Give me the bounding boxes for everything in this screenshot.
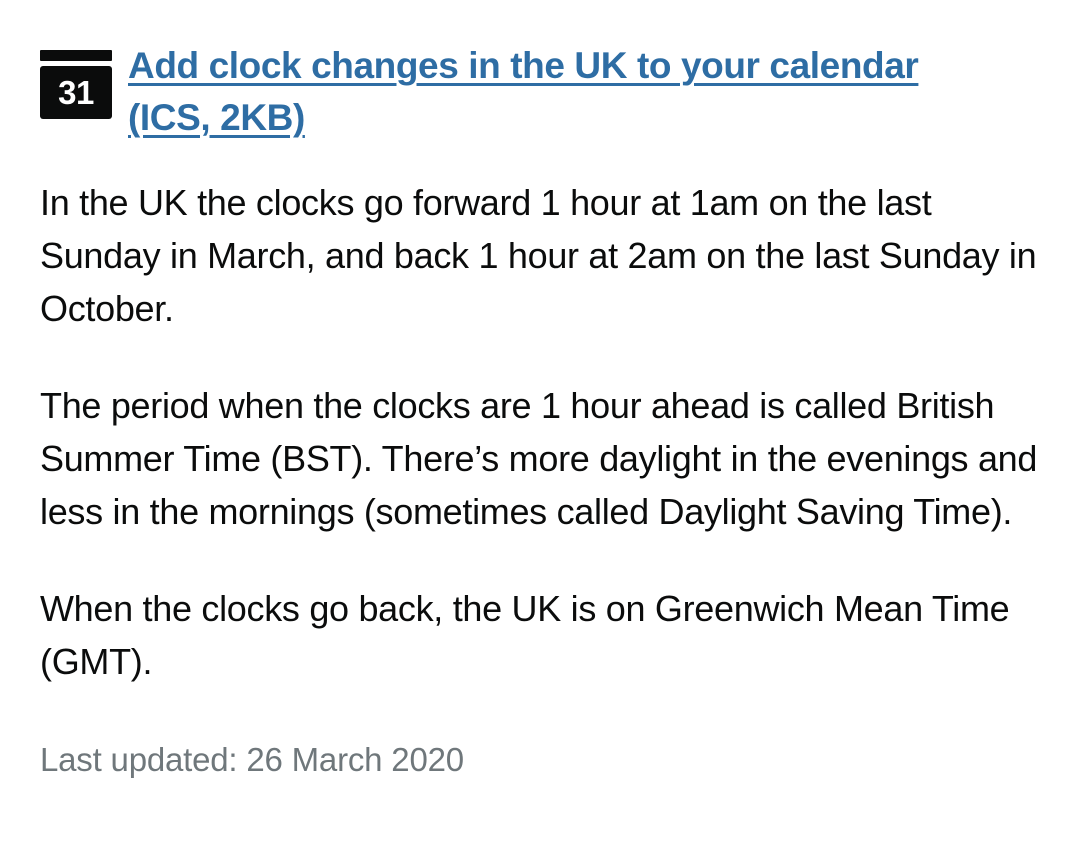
add-clock-changes-calendar-link[interactable]: Add clock changes in the UK to your cale… [128, 40, 1008, 144]
paragraph-clock-change-times: In the UK the clocks go forward 1 hour a… [40, 176, 1040, 335]
attachment-block: 31 Add clock changes in the UK to your c… [40, 40, 1040, 144]
page-content: 31 Add clock changes in the UK to your c… [0, 0, 1080, 782]
body-copy: In the UK the clocks go forward 1 hour a… [40, 176, 1040, 688]
calendar-icon-day-number: 31 [58, 76, 94, 109]
last-updated-text: Last updated: 26 March 2020 [40, 738, 1040, 782]
calendar-ics-icon: 31 [40, 50, 112, 119]
paragraph-greenwich-mean-time: When the clocks go back, the UK is on Gr… [40, 582, 1040, 688]
paragraph-british-summer-time: The period when the clocks are 1 hour ah… [40, 379, 1040, 538]
calendar-icon-body: 31 [40, 66, 112, 119]
calendar-icon-top-bar [40, 50, 112, 61]
